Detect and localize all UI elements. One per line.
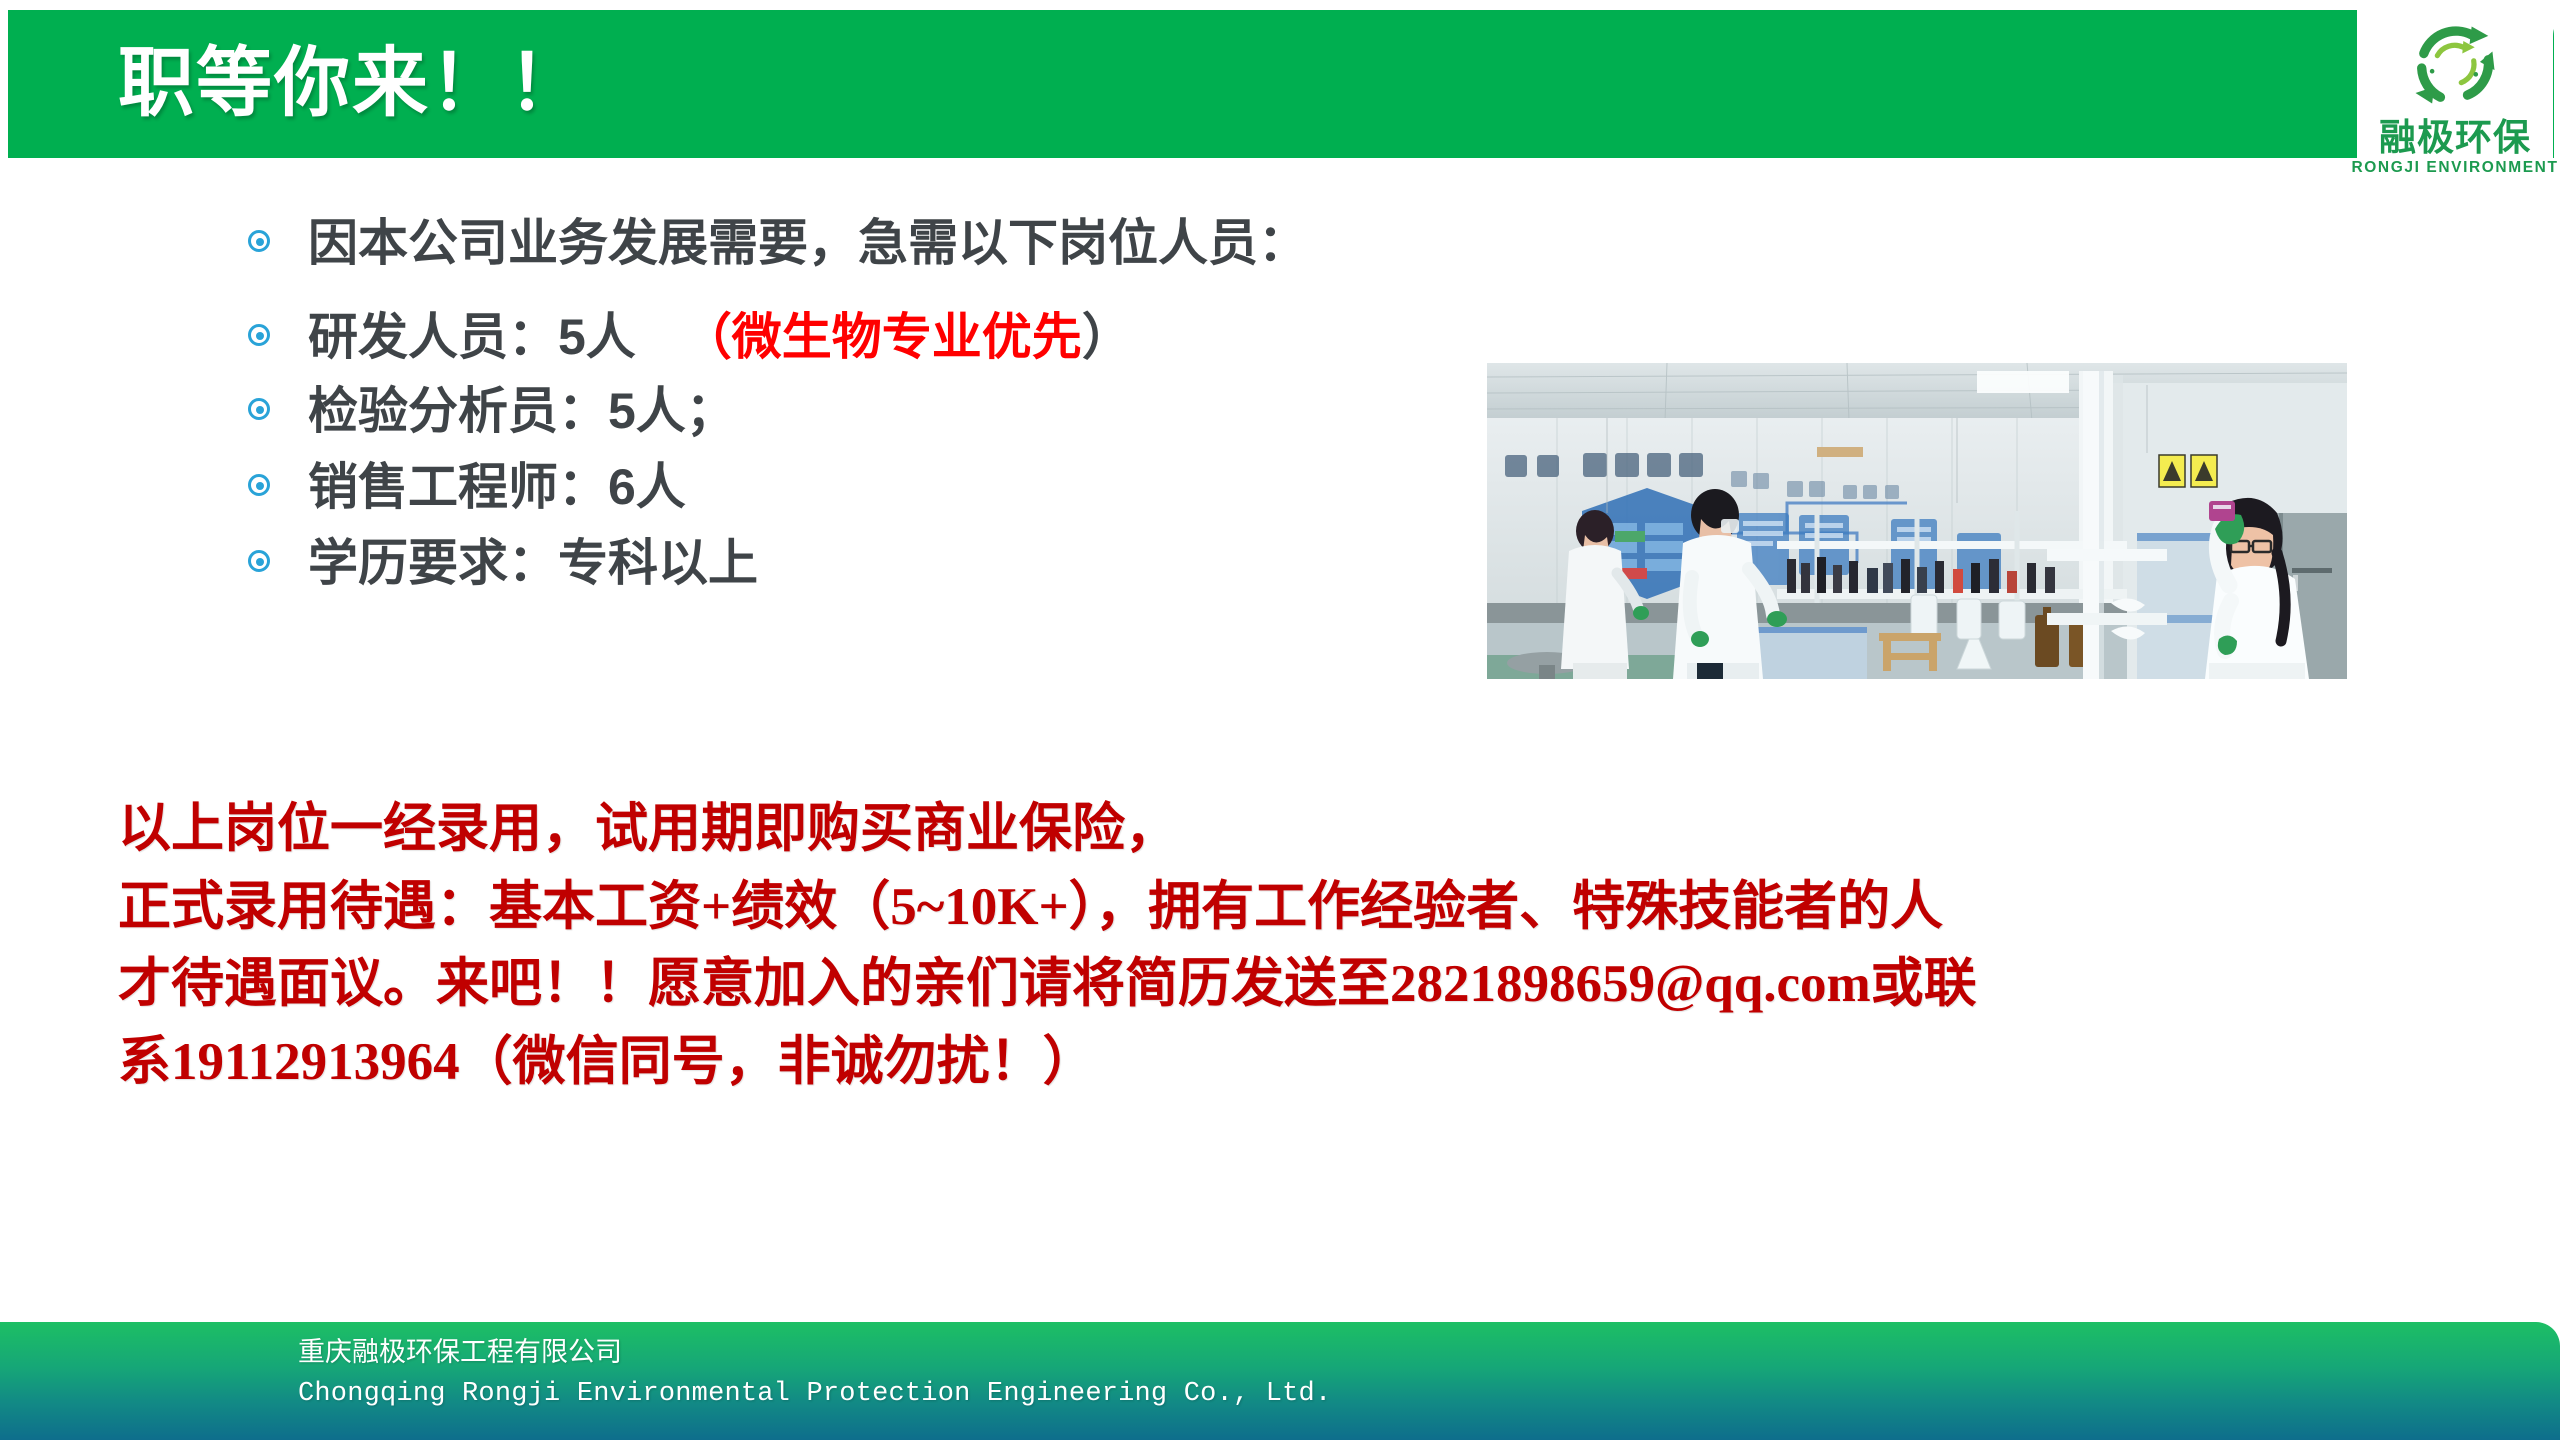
bullet-label-qa: 检验分析员：5人； (308, 382, 736, 441)
circle-dot-bullet-icon (248, 230, 274, 256)
list-item: 学历要求：专科以上 (248, 526, 1498, 600)
circle-dot-bullet-icon (248, 550, 274, 576)
list-item: 销售工程师：6人 (248, 450, 1498, 524)
recycling-circle-arrows-icon (2403, 14, 2507, 118)
rd-paren-close: ） (1082, 309, 1132, 365)
footer-company-en: Chongqing Rongji Environmental Protectio… (298, 1380, 1331, 1410)
header-banner: 职等你来！！ (8, 10, 2554, 158)
page-title: 职等你来！！ (118, 46, 586, 122)
recruitment-notice: 以上岗位一经录用，试用期即购买商业保险， 正式录用待遇：基本工资+绩效（5~10… (118, 798, 2448, 1093)
list-item: 检验分析员：5人； (248, 374, 1498, 448)
bullet-label-rd: 研发人员：5人（微生物专业优先） (308, 308, 1132, 367)
job-bullet-list: 因本公司业务发展需要，急需以下岗位人员： 研发人员：5人（微生物专业优先） 检验… (248, 206, 1498, 602)
laboratory-photo (1487, 363, 2347, 679)
rd-highlight-label: （微生物专业优先 (682, 309, 1082, 365)
circle-dot-bullet-icon (248, 398, 274, 424)
circle-dot-bullet-icon (248, 324, 274, 350)
logo-english-name: RONGJI ENVIRONMENT (2351, 159, 2558, 177)
notice-line-3: 才待遇面议。来吧！！愿意加入的亲们请将简历发送至2821898659@qq.co… (118, 953, 2448, 1016)
circle-dot-bullet-icon (248, 474, 274, 500)
bullet-label-education: 学历要求：专科以上 (308, 534, 758, 593)
notice-line-4: 系19112913964（微信同号，非诚勿扰！） (118, 1031, 2448, 1094)
notice-line-2: 正式录用待遇：基本工资+绩效（5~10K+），拥有工作经验者、特殊技能者的人 (118, 876, 2448, 939)
footer-bar: 重庆融极环保工程有限公司 Chongqing Rongji Environmen… (0, 1322, 2560, 1440)
bullet-label-sales: 销售工程师：6人 (308, 458, 686, 517)
logo-chinese-name: 融极环保 (2379, 119, 2531, 158)
footer-company-cn: 重庆融极环保工程有限公司 (298, 1338, 622, 1368)
notice-line-1: 以上岗位一经录用，试用期即购买商业保险， (118, 798, 2448, 861)
list-item: 因本公司业务发展需要，急需以下岗位人员： (248, 206, 1498, 280)
bullet-label-intro: 因本公司业务发展需要，急需以下岗位人员： (308, 214, 1308, 273)
lab-scene-illustration (1487, 363, 2347, 679)
list-item: 研发人员：5人（微生物专业优先） (248, 300, 1498, 374)
rd-count-label: 研发人员：5人 (308, 309, 636, 365)
company-logo: 融极环保 RONGJI ENVIRONMENT (2357, 6, 2553, 206)
slide-canvas: 职等你来！！ 融极环保 RONGJI ENVIRONMENT (0, 0, 2560, 1440)
